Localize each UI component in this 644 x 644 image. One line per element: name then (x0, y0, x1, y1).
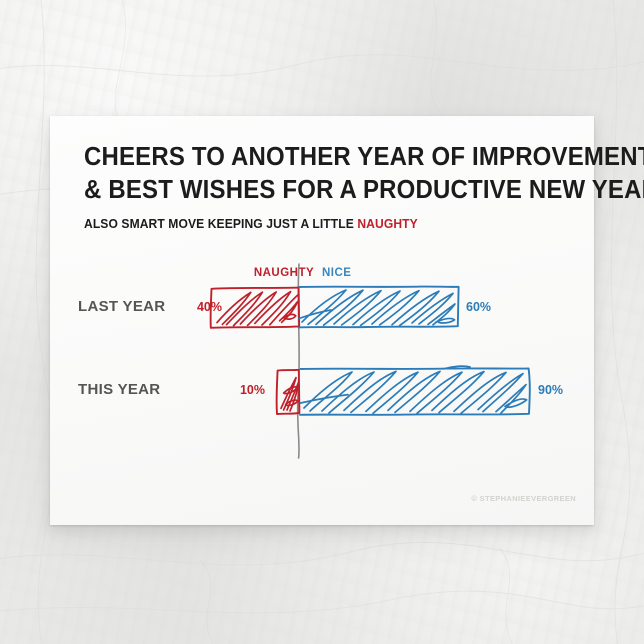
subtitle: ALSO SMART MOVE KEEPING JUST A LITTLE NA… (84, 216, 530, 231)
headline-line-2: & BEST WISHES FOR A PRODUCTIVE NEW YEAR (84, 174, 535, 207)
subtitle-highlight: NAUGHTY (357, 216, 417, 231)
headline-block: CHEERS TO ANOTHER YEAR OF IMPROVEMENT & … (84, 141, 564, 231)
segment-header-naughty: NAUGHTY (254, 267, 314, 279)
bar-this-year-nice (300, 366, 530, 415)
category-label-this-year: THIS YEAR (78, 381, 160, 398)
postcard: CHEERS TO ANOTHER YEAR OF IMPROVEMENT & … (50, 116, 594, 525)
value-label-last-year-naughty: 40% (197, 300, 222, 314)
category-label-last-year: LAST YEAR (78, 298, 165, 315)
segment-header-nice: NICE (322, 267, 351, 279)
bar-last-year-nice (299, 287, 459, 328)
headline-line-1: CHEERS TO ANOTHER YEAR OF IMPROVEMENT (84, 141, 535, 174)
subtitle-prefix: ALSO SMART MOVE KEEPING JUST A LITTLE (84, 216, 357, 231)
value-label-this-year-nice: 90% (538, 383, 563, 397)
attribution-credit: © STEPHANIEEVERGREEN (471, 494, 576, 503)
bar-last-year-naughty (211, 288, 300, 328)
bar-this-year-naughty (277, 370, 300, 414)
value-label-this-year-naughty: 10% (240, 383, 265, 397)
diverging-bar-chart: NAUGHTY NICE LAST YEAR 40% 60% (50, 256, 594, 466)
value-label-last-year-nice: 60% (466, 300, 491, 314)
